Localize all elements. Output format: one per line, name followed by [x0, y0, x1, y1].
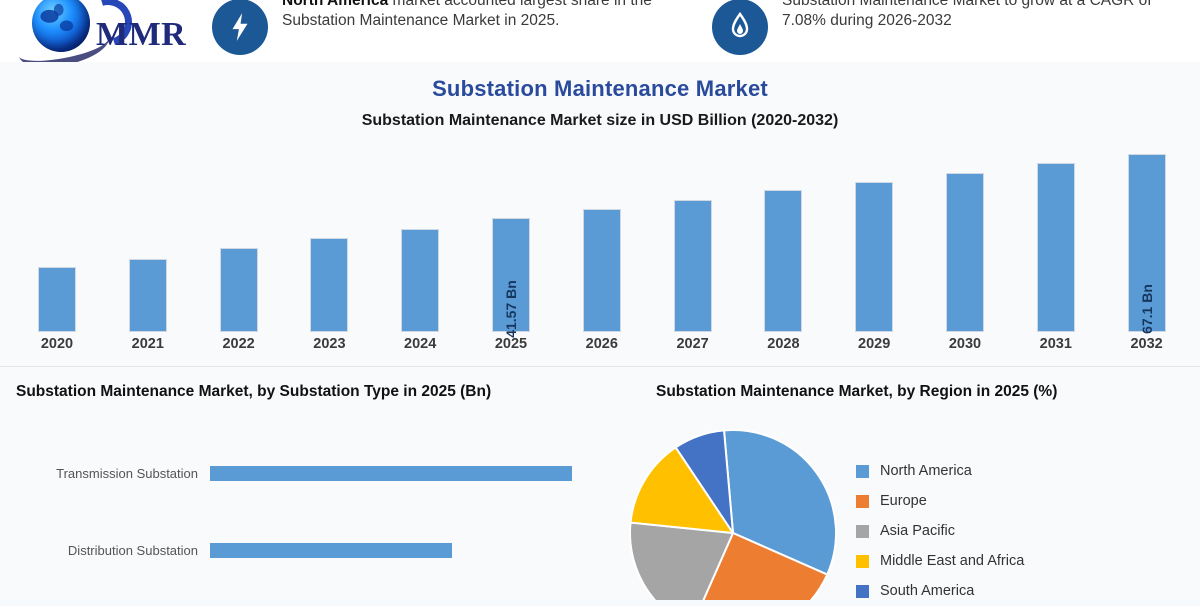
bar-value-label-2032: 67.1 Bn	[1139, 284, 1155, 334]
highlight-body-2: Substation Maintenance Market to grow at…	[782, 0, 1152, 29]
bar-2030	[946, 173, 984, 332]
highlight-text-1: North America market accounted largest s…	[282, 0, 692, 31]
x-tick-2025: 2025	[471, 336, 551, 352]
legend-label: Middle East and Africa	[880, 553, 1024, 569]
legend-item-asia-pacific: Asia Pacific	[856, 516, 1186, 546]
bar-2026	[583, 209, 621, 332]
highlight-item-1: North America market accounted largest s…	[212, 7, 692, 55]
x-tick-2021: 2021	[108, 336, 188, 352]
bar-chart-x-axis: 2020202120222023202420252026202720282029…	[0, 336, 1200, 360]
column-bar-chart: 41.57 Bn67.1 Bn	[0, 140, 1200, 335]
bar-2024	[401, 229, 439, 332]
lightning-bolt-icon	[212, 0, 268, 55]
hbar-2	[210, 543, 452, 558]
x-tick-2023: 2023	[289, 336, 369, 352]
section-divider	[0, 366, 1200, 367]
hbar-label-2: Distribution Substation	[0, 543, 210, 558]
legend-label: Europe	[880, 493, 927, 509]
x-tick-2027: 2027	[653, 336, 733, 352]
bar-2029	[855, 182, 893, 332]
legend-swatch-icon	[856, 555, 869, 568]
bar-2021	[129, 259, 167, 332]
legend-item-middle-east-and-africa: Middle East and Africa	[856, 546, 1186, 576]
page-title: Substation Maintenance Market	[0, 76, 1200, 102]
x-tick-2024: 2024	[380, 336, 460, 352]
brand-logo: MMR	[0, 0, 200, 62]
pie-svg	[628, 428, 838, 600]
x-tick-2031: 2031	[1016, 336, 1096, 352]
hbar-row: Distribution Substation	[0, 535, 620, 565]
infographic-page: MMR North America market accounted large…	[0, 0, 1200, 600]
horizontal-bar-chart: Transmission SubstationDistribution Subs…	[0, 430, 620, 600]
highlight-item-2: Substation Maintenance Market to grow at…	[712, 7, 1182, 55]
pie-legend: North AmericaEuropeAsia PacificMiddle Ea…	[856, 456, 1186, 606]
region-pie-chart	[628, 428, 838, 600]
water-droplet-icon	[712, 0, 768, 55]
bar-2031	[1037, 163, 1075, 332]
brand-name: MMR	[96, 16, 186, 54]
x-tick-2030: 2030	[925, 336, 1005, 352]
chart-subtitle: Substation Maintenance Market size in US…	[0, 112, 1200, 130]
section-heading-region: Substation Maintenance Market, by Region…	[656, 383, 1057, 401]
legend-item-north-america: North America	[856, 456, 1186, 486]
bar-2020	[38, 267, 76, 332]
x-tick-2026: 2026	[562, 336, 642, 352]
header-bar: MMR North America market accounted large…	[0, 0, 1200, 62]
hbar-1	[210, 466, 572, 481]
x-tick-2028: 2028	[743, 336, 823, 352]
x-tick-2032: 2032	[1107, 336, 1187, 352]
legend-swatch-icon	[856, 465, 869, 478]
legend-item-europe: Europe	[856, 486, 1186, 516]
section-heading-substation-type: Substation Maintenance Market, by Substa…	[16, 383, 491, 401]
highlight-text-2: Substation Maintenance Market to grow at…	[782, 0, 1182, 31]
bar-2027	[674, 200, 712, 332]
x-tick-2020: 2020	[17, 336, 97, 352]
bar-2025: 41.57 Bn	[492, 218, 530, 332]
legend-swatch-icon	[856, 495, 869, 508]
bar-value-label-2025: 41.57 Bn	[503, 280, 519, 338]
legend-label: South America	[880, 583, 974, 599]
hbar-row: Transmission Substation	[0, 458, 620, 488]
legend-label: North America	[880, 463, 972, 479]
legend-label: Asia Pacific	[880, 523, 955, 539]
x-tick-2022: 2022	[199, 336, 279, 352]
bar-2032: 67.1 Bn	[1128, 154, 1166, 332]
highlight-lead-1: North America	[282, 0, 388, 9]
x-tick-2029: 2029	[834, 336, 914, 352]
hbar-label-1: Transmission Substation	[0, 466, 210, 481]
bar-2028	[764, 190, 802, 332]
bar-2022	[220, 248, 258, 332]
bar-2023	[310, 238, 348, 332]
legend-item-south-america: South America	[856, 576, 1186, 606]
legend-swatch-icon	[856, 585, 869, 598]
legend-swatch-icon	[856, 525, 869, 538]
